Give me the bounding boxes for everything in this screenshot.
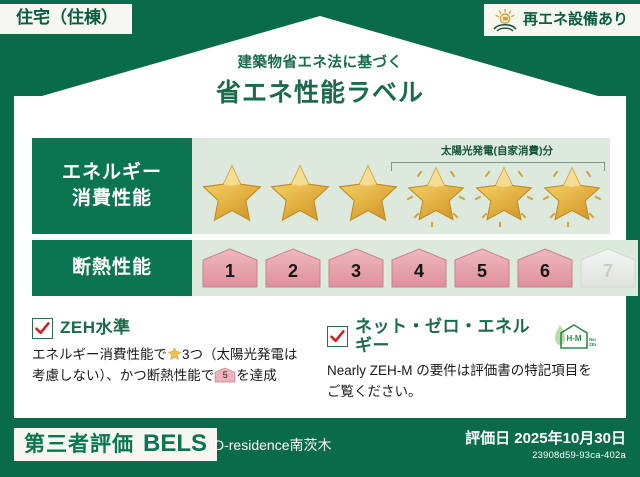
energy-performance-row: エネルギー 消費性能 太陽光発電(自家消費)分 xyxy=(32,138,610,234)
zeh-body-before-star: エネルギー消費性能で xyxy=(32,347,167,362)
renewable-equipment-label: 再エネ設備あり xyxy=(523,12,628,29)
star-icon xyxy=(538,159,606,227)
bels-certification-badge: 第三者評価 BELS xyxy=(14,428,217,461)
label-title-sub: 建築物省エネ法に基づく xyxy=(0,55,640,72)
checkbox-checked-icon xyxy=(32,318,53,339)
svg-text:ZEH-M: ZEH-M xyxy=(589,342,596,347)
insulation-badge-inline-label: 5 xyxy=(214,367,236,383)
net-zero-energy-note: ネット・ゼロ・エネルギー H-M Nearly ZEH-M Nearly ZEH… xyxy=(321,318,610,403)
star-icon xyxy=(167,346,182,361)
evaluation-info: 評価日 2025年10月30日 23908d59-93ca-402a xyxy=(465,430,626,462)
insulation-performance-label-box: 断熱性能 xyxy=(32,240,192,296)
insulation-badge-label: 2 xyxy=(263,247,323,289)
label-title-main: 省エネ性能ラベル xyxy=(0,78,640,108)
zeh-body-after: を達成 xyxy=(236,368,277,383)
star-icon xyxy=(266,159,334,227)
bels-badge-en-label: BELS xyxy=(143,432,207,456)
building-name: D-residence南茨木 xyxy=(214,438,331,453)
energy-performance-label-line2: 消費性能 xyxy=(72,186,152,212)
rating-rows: エネルギー 消費性能 太陽光発電(自家消費)分 xyxy=(32,138,610,296)
insulation-badge-label: 6 xyxy=(515,247,575,289)
star-icon xyxy=(198,159,266,227)
svg-text:H-M: H-M xyxy=(566,334,581,343)
insulation-badge-label: 3 xyxy=(326,247,386,289)
house-type-tag: 住宅（住棟） xyxy=(0,4,132,34)
insulation-level-badges: 1 2 3 4 xyxy=(192,247,638,289)
sun-renewable-icon xyxy=(492,8,518,32)
evaluation-id: 23908d59-93ca-402a xyxy=(465,450,626,462)
energy-performance-label: 住宅（住棟） 再エネ設備あり 建築物省エネ法に基づく 省エネ性能ラベル xyxy=(0,0,640,477)
nearly-zeh-m-logo-icon: H-M Nearly ZEH-M xyxy=(552,322,596,352)
insulation-badge-label: 7 xyxy=(578,247,638,289)
energy-star-rating xyxy=(192,159,606,227)
insulation-performance-label: 断熱性能 xyxy=(72,255,152,281)
energy-performance-label-line1: エネルギー xyxy=(62,160,162,186)
star-icon xyxy=(334,159,402,227)
insulation-badge-label: 5 xyxy=(452,247,512,289)
zeh-standard-title: ZEH水準 xyxy=(60,319,131,338)
evaluation-date: 評価日 2025年10月30日 xyxy=(465,430,626,448)
solar-contribution-label: 太陽光発電(自家消費)分 xyxy=(391,143,603,158)
insulation-badge: 5 xyxy=(452,247,512,289)
energy-performance-label-box: エネルギー 消費性能 xyxy=(32,138,192,234)
insulation-badge: 3 xyxy=(326,247,386,289)
net-zero-energy-body: Nearly ZEH-M の要件は評価書の特記項目をご覧ください。 xyxy=(327,361,596,403)
net-zero-energy-note-header: ネット・ゼロ・エネルギー H-M Nearly ZEH-M xyxy=(327,318,596,355)
insulation-badge-label: 1 xyxy=(200,247,260,289)
label-notes: ZEH水準 エネルギー消費性能で3つ（太陽光発電は考慮しない）、かつ断熱性能で5… xyxy=(32,318,610,403)
insulation-badge: 1 xyxy=(200,247,260,289)
zeh-standard-body: エネルギー消費性能で3つ（太陽光発電は考慮しない）、かつ断熱性能で5を達成 xyxy=(32,345,307,387)
insulation-badge-inactive: 7 xyxy=(578,247,638,289)
evaluation-date-label: 評価日 xyxy=(465,430,510,447)
insulation-badge: 4 xyxy=(389,247,449,289)
zeh-standard-note: ZEH水準 エネルギー消費性能で3つ（太陽光発電は考慮しない）、かつ断熱性能で5… xyxy=(32,318,321,403)
checkbox-checked-icon xyxy=(327,326,348,347)
star-icon xyxy=(470,159,538,227)
bels-badge-ja-label: 第三者評価 xyxy=(24,434,134,455)
energy-performance-field: 太陽光発電(自家消費)分 xyxy=(192,138,610,234)
zeh-standard-note-header: ZEH水準 xyxy=(32,318,307,339)
house-type-tag-label: 住宅（住棟） xyxy=(16,8,118,27)
insulation-performance-field: 1 2 3 4 xyxy=(192,240,638,296)
renewable-equipment-tag: 再エネ設備あり xyxy=(484,4,640,36)
star-icon xyxy=(402,159,470,227)
insulation-badge-label: 4 xyxy=(389,247,449,289)
insulation-badge-inline: 5 xyxy=(214,367,236,383)
label-footer: 第三者評価 BELS D-residence南茨木 評価日 2025年10月30… xyxy=(0,424,640,477)
insulation-badge: 6 xyxy=(515,247,575,289)
net-zero-energy-title: ネット・ゼロ・エネルギー xyxy=(355,318,545,355)
label-title: 建築物省エネ法に基づく 省エネ性能ラベル xyxy=(0,55,640,108)
insulation-performance-row: 断熱性能 1 xyxy=(32,240,610,296)
insulation-badge: 2 xyxy=(263,247,323,289)
evaluation-date-value: 2025年10月30日 xyxy=(514,430,626,447)
